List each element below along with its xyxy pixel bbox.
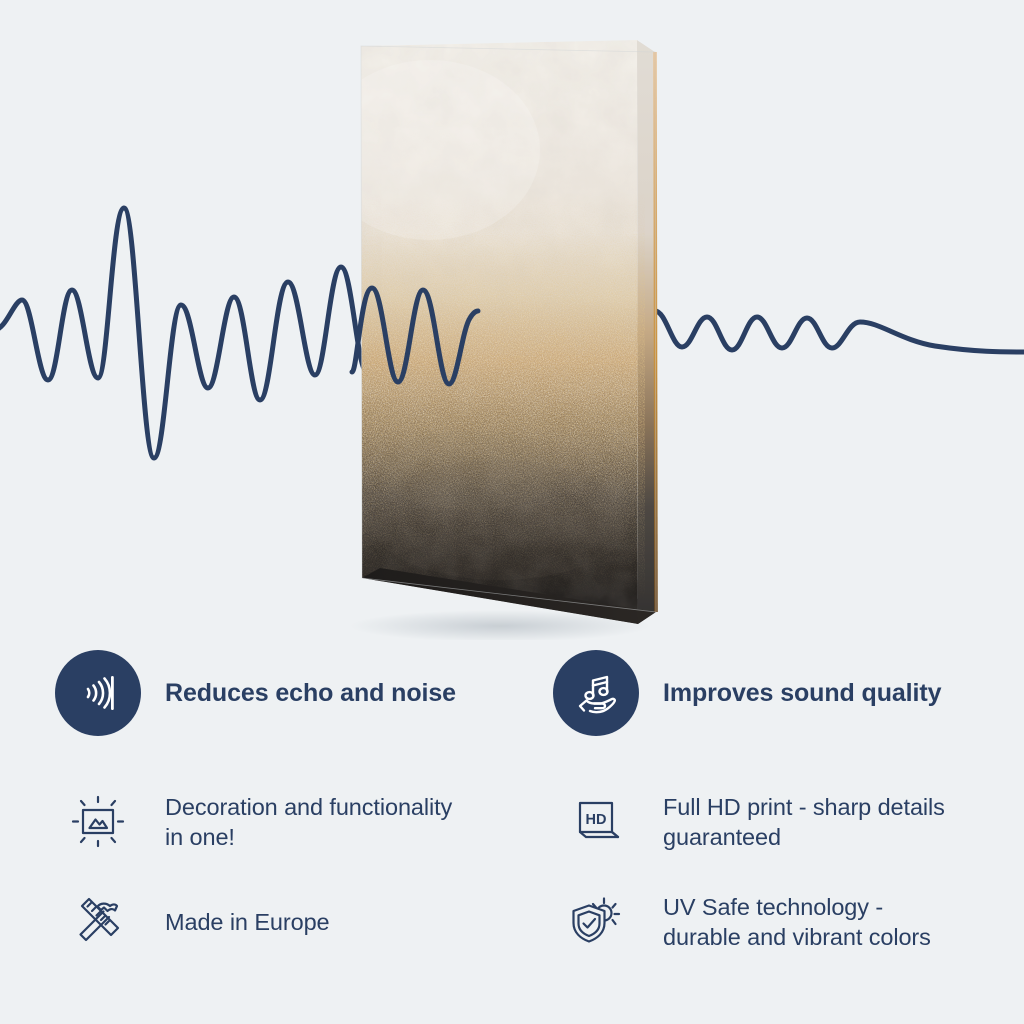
sound-waves-wall-icon <box>55 650 141 736</box>
feature-label: Reduces echo and noise <box>165 679 456 708</box>
hero-section <box>0 0 1024 640</box>
hd-icon-text: HD <box>586 812 607 828</box>
feature-label: Decoration and functionality in one! <box>165 792 452 852</box>
feature-label: UV Safe technology - durable and vibrant… <box>663 892 931 952</box>
feature-improves-sound[interactable]: Improves sound quality <box>553 650 1013 736</box>
feature-label: Made in Europe <box>165 907 330 937</box>
waveform-over-canvas <box>0 0 1024 640</box>
feature-made-in-europe[interactable]: Made in Europe <box>55 883 525 961</box>
hammer-and-ruler-icon <box>55 885 141 959</box>
waveform-overlay-path <box>352 288 478 384</box>
music-note-in-hand-icon <box>553 650 639 736</box>
feature-uv-safe[interactable]: UV Safe technology - durable and vibrant… <box>553 883 1013 961</box>
feature-reduces-echo[interactable]: Reduces echo and noise <box>55 650 525 736</box>
feature-full-hd-print[interactable]: HD Full HD print - sharp details guarant… <box>553 783 1013 861</box>
feature-decoration-functionality[interactable]: Decoration and functionality in one! <box>55 783 525 861</box>
uv-shield-sun-icon <box>553 885 639 959</box>
feature-label: Improves sound quality <box>663 679 941 708</box>
infographic-root: Reduces echo and noise Improve <box>0 0 1024 1024</box>
framed-picture-shine-icon <box>55 785 141 859</box>
hd-print-page-icon: HD <box>553 785 639 859</box>
feature-label: Full HD print - sharp details guaranteed <box>663 792 945 852</box>
features-section: Reduces echo and noise Improve <box>0 640 1024 1024</box>
